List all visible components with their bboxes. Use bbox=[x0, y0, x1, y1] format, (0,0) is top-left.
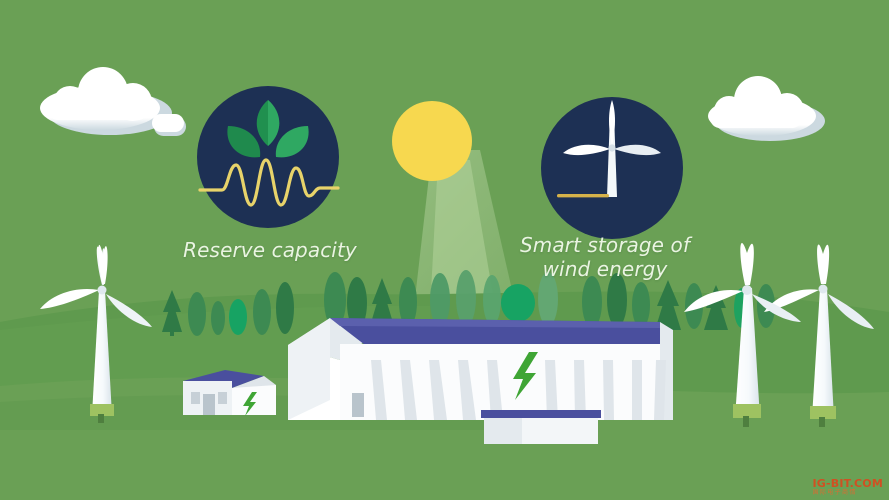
turbine-hub bbox=[98, 286, 107, 295]
warehouse-annex bbox=[481, 410, 601, 444]
reserve-capacity-badge bbox=[197, 86, 339, 228]
turbine-base-post bbox=[819, 417, 825, 427]
tree bbox=[607, 273, 627, 327]
cloud-left-small bbox=[152, 114, 186, 136]
turbine-hub bbox=[819, 285, 828, 294]
badge-ground-dash bbox=[557, 194, 609, 197]
illustration-canvas: Reserve capacity Smart storage of wind e… bbox=[0, 0, 889, 500]
tree bbox=[188, 292, 206, 336]
tree bbox=[229, 299, 247, 335]
turbine-hub bbox=[742, 285, 752, 295]
house-door bbox=[203, 394, 215, 415]
battery-storage-warehouse bbox=[288, 318, 673, 420]
warehouse-door bbox=[352, 393, 364, 417]
ig-bit-watermark: IG-BIT.COM 国际电子商情 bbox=[793, 478, 883, 496]
tree bbox=[211, 301, 225, 335]
tree bbox=[483, 275, 501, 325]
tree bbox=[276, 282, 294, 334]
turbine-base bbox=[733, 404, 761, 418]
annex-wall-shade bbox=[484, 418, 522, 444]
tree bbox=[253, 289, 271, 335]
tree bbox=[430, 273, 450, 327]
turbine-base-post bbox=[98, 414, 104, 423]
tree bbox=[456, 270, 476, 326]
house-window-2 bbox=[218, 392, 227, 404]
smart-storage-badge bbox=[541, 97, 683, 239]
scene-svg bbox=[0, 0, 889, 500]
sun-disc bbox=[392, 101, 472, 181]
tree bbox=[582, 276, 602, 328]
annex-roof bbox=[481, 410, 601, 418]
house-window-1 bbox=[191, 392, 200, 404]
house-wall-right bbox=[232, 385, 276, 415]
tree bbox=[538, 272, 558, 326]
turbine-base-post bbox=[743, 416, 749, 427]
ig-bit-logo-icon bbox=[793, 479, 809, 495]
tree bbox=[632, 282, 650, 328]
